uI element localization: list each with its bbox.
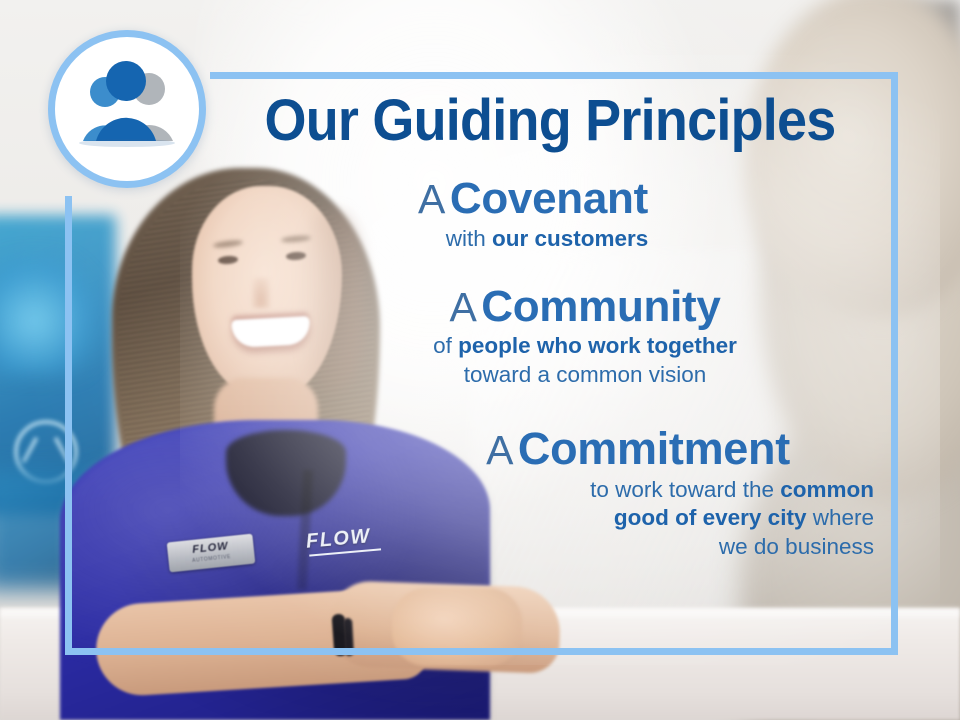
principle-community-title: A Community [180,284,880,330]
principle-commitment-title: A Commitment [180,426,880,473]
subtext-plain-2: toward a common vision [464,362,707,387]
subtext-plain-2: where [806,505,874,530]
subtext-plain-1: to work toward the [590,477,780,502]
page-title: Our Guiding Principles [229,92,871,150]
principle-covenant-title: A Covenant [180,176,880,222]
subtext-bold-2: good of every city [614,505,807,530]
principle-article: A [418,176,445,222]
frame-border-left [65,196,72,655]
subtext-bold-1: people who work together [458,333,737,358]
display-screen-car [0,255,100,375]
principle-covenant-subtext: with our customers [180,225,880,254]
frame-border-top [210,72,898,79]
principle-keyword: Community [481,282,720,331]
frame-border-right [891,72,898,655]
principle-community-subtext: of people who work together toward a com… [180,332,880,390]
principle-keyword: Commitment [518,423,790,474]
principle-article: A [486,427,513,473]
principles-list: A Covenant with our customers A Communit… [180,176,880,570]
group-of-people-icon [55,37,199,181]
principle-article: A [449,284,476,330]
principle-commitment: A Commitment to work toward the common g… [180,426,880,562]
principle-community: A Community of people who work together … [180,284,880,390]
principle-covenant: A Covenant with our customers [180,176,880,254]
subtext-bold-1: common [780,477,874,502]
people-badge [48,30,206,188]
principle-commitment-subtext: to work toward the common good of every … [180,476,880,562]
subtext-plain-1: of [433,333,458,358]
subtext-plain-1: with [446,226,492,251]
frame-border-bottom [65,648,898,655]
principle-keyword: Covenant [450,174,648,223]
subtext-plain-3: we do business [719,534,874,559]
guiding-principles-graphic: FLOW FLOW AUTOMOTIVE [0,0,960,720]
subtext-bold-1: our customers [492,226,648,251]
